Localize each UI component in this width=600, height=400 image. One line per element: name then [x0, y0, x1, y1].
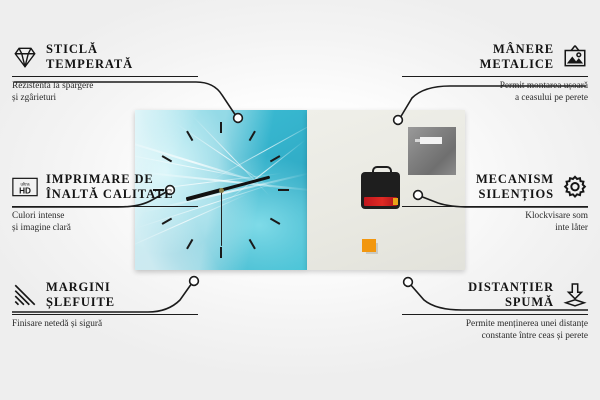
feature-desc: Permit montarea ușoară a ceasului pe per… — [402, 80, 588, 105]
hanging-frame-icon — [562, 44, 588, 70]
feature-desc: Culori intense și imagine clară — [12, 210, 198, 235]
feature-high-quality-print: ultra HD IMPRIMARE DE ÎNALTĂ CALITATE Cu… — [12, 172, 198, 234]
feature-title: MÂNERE METALICE — [480, 42, 554, 73]
battery-terminal — [393, 198, 398, 205]
divider-rule — [12, 206, 198, 207]
second-hand — [221, 190, 222, 246]
feature-polished-edges: MARGINI ȘLEFUITE Finisare netedă și sigu… — [12, 280, 198, 330]
hour-tick — [220, 122, 222, 133]
divider-rule — [12, 76, 198, 77]
divider-rule — [12, 314, 198, 315]
clock-center-pin — [219, 188, 224, 193]
polished-edges-icon — [12, 282, 38, 308]
gear-icon — [562, 174, 588, 200]
divider-rule — [402, 314, 588, 315]
minute-hand — [221, 176, 270, 192]
infographic-canvas: STICLĂ TEMPERATĂ Rezistentă la spargere … — [0, 0, 600, 400]
feature-title: DISTANȚIER SPUMĂ — [468, 280, 554, 311]
ultra-hd-icon: ultra HD — [12, 174, 38, 200]
divider-rule — [402, 206, 588, 207]
hour-tick — [186, 239, 193, 250]
feature-tempered-glass: STICLĂ TEMPERATĂ Rezistentă la spargere … — [12, 42, 198, 104]
feature-desc: Permite menținerea unei distanțe constan… — [402, 318, 588, 343]
hour-tick — [278, 189, 289, 191]
metal-hanger-plate — [408, 127, 456, 175]
feature-silent-mechanism: MECANISM SILENȚIOS Klockvisare som inte … — [402, 172, 588, 234]
press-down-icon — [562, 282, 588, 308]
feature-desc: Finisare netedă și sigură — [12, 318, 198, 330]
feature-desc: Klockvisare som inte låter — [402, 210, 588, 235]
hour-tick — [270, 218, 281, 225]
svg-text:HD: HD — [19, 187, 31, 196]
svg-text:ultra: ultra — [20, 182, 29, 187]
feature-title: MECANISM SILENȚIOS — [476, 172, 554, 203]
hour-tick — [220, 247, 222, 258]
divider-rule — [402, 76, 588, 77]
feature-metal-handles: MÂNERE METALICE Permit montarea ușoară a… — [402, 42, 588, 104]
feature-title: STICLĂ TEMPERATĂ — [46, 42, 133, 73]
feature-title: MARGINI ȘLEFUITE — [46, 280, 115, 311]
feature-desc: Rezistentă la spargere și zgârieturi — [12, 80, 198, 105]
quartz-movement — [361, 172, 400, 209]
hour-tick — [186, 131, 193, 142]
hour-tick — [162, 155, 173, 162]
hour-tick — [249, 239, 256, 250]
feature-title: IMPRIMARE DE ÎNALTĂ CALITATE — [46, 172, 174, 203]
hanger-slot — [420, 137, 442, 144]
hour-tick — [270, 155, 281, 162]
movement-hanger-loop — [372, 166, 392, 177]
foam-spacer-pad — [362, 239, 376, 252]
diamond-icon — [12, 44, 38, 70]
feature-foam-spacer: DISTANȚIER SPUMĂ Permite menținerea unei… — [402, 280, 588, 342]
hour-tick — [249, 131, 256, 142]
